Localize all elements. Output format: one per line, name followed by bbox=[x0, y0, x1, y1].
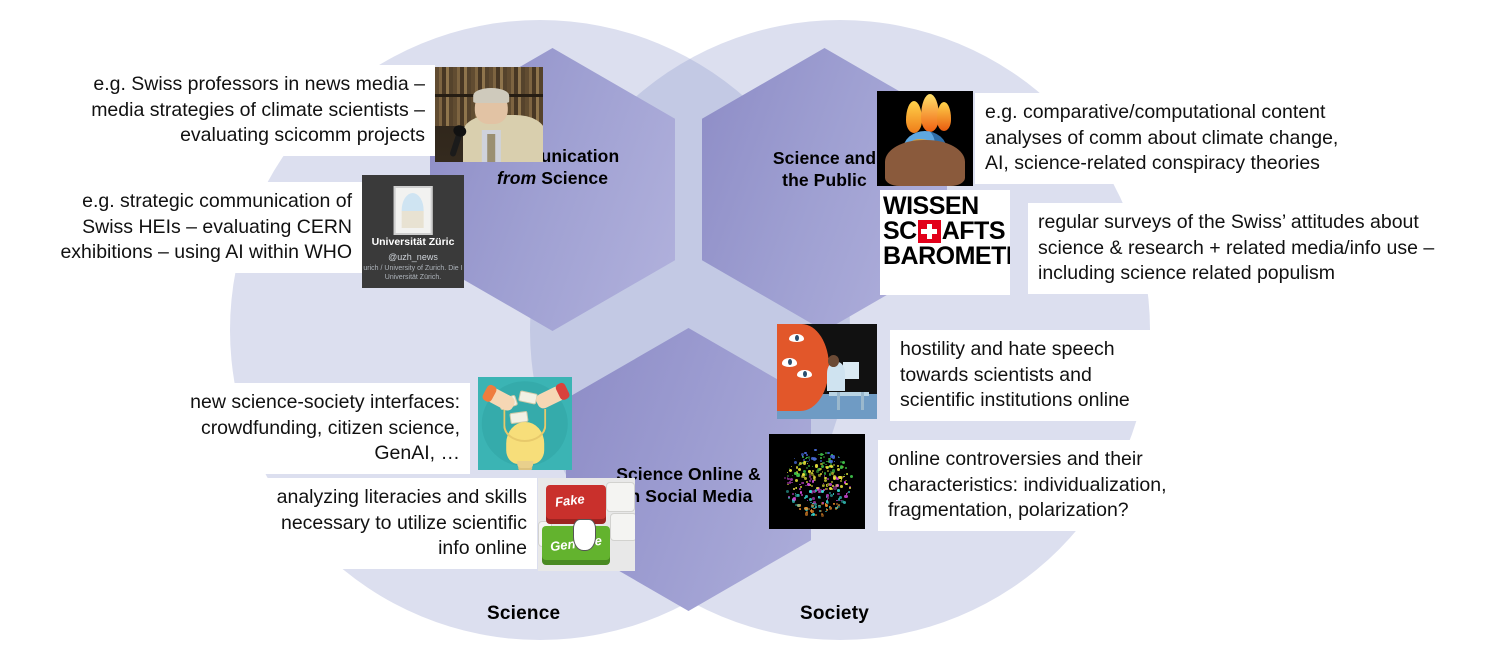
callout-line: e.g. Swiss professors in news media – bbox=[65, 72, 425, 98]
thumbnail-crowdfunding-lightbulb bbox=[478, 377, 572, 470]
mouse-cursor-icon bbox=[573, 519, 596, 551]
callout-line: media strategies of climate scientists – bbox=[65, 98, 425, 124]
callout-line: necessary to utilize scientific bbox=[247, 511, 527, 537]
callout-line: analyses of comm about climate change, bbox=[985, 126, 1393, 152]
callout-line: e.g. strategic communication of bbox=[42, 189, 352, 215]
callout-line: online controversies and their bbox=[888, 447, 1198, 473]
thumbnail-professor-photo bbox=[435, 67, 543, 162]
callout-line: info online bbox=[247, 536, 527, 562]
callout-regular-surveys-swiss-attitudes: regular surveys of the Swiss’ attitudes … bbox=[1028, 203, 1494, 294]
callout-line: analyzing literacies and skills bbox=[247, 485, 527, 511]
uzh-account-name: Universität Züric bbox=[362, 236, 464, 248]
callout-line: towards scientists and bbox=[900, 363, 1180, 389]
callout-line: exhibitions – using AI within WHO bbox=[42, 240, 352, 266]
uzh-account-meta: urich / University of Zurich. Die I Univ… bbox=[362, 264, 464, 282]
hexagon-label-science-public: Science and the Public bbox=[773, 148, 876, 192]
callout-online-controversies: online controversies and their character… bbox=[878, 440, 1208, 531]
diagram-canvas: Science Society Communication from Scien… bbox=[0, 0, 1501, 666]
callout-line: AI, science-related conspiracy theories bbox=[985, 151, 1393, 177]
wissenschaftsbarometer-logo-illustration: WISSEN SCAFTS BAROMETER bbox=[880, 190, 1010, 295]
callout-line: crowdfunding, citizen science, bbox=[150, 416, 460, 442]
uzh-account-handle: @uzh_news bbox=[362, 252, 464, 262]
wb-logo-line2: SCAFTS bbox=[883, 219, 1007, 244]
hexagon-label-science-online: Science Online & in Social Media bbox=[616, 464, 761, 508]
thumbnail-fake-genuine-keyboard: Fake Genuine bbox=[538, 478, 635, 571]
callout-line: hostility and hate speech bbox=[900, 337, 1180, 363]
thumbnail-network-graph bbox=[769, 434, 865, 529]
callout-line: including science related populism bbox=[1038, 261, 1484, 287]
thumbnail-uzh-twitter-card: Universität Züric @uzh_news urich / Univ… bbox=[362, 175, 464, 288]
crowdfunding-lightbulb-illustration bbox=[478, 377, 572, 470]
callout-comparative-computational-content-analyses: e.g. comparative/computational content a… bbox=[975, 93, 1403, 184]
network-graph-illustration bbox=[769, 434, 865, 529]
thumbnail-hate-speech-illustration bbox=[777, 324, 877, 419]
thumbnail-earth-in-hands bbox=[877, 91, 973, 186]
swiss-cross-icon bbox=[918, 220, 941, 243]
circle-label-society: Society bbox=[800, 603, 869, 625]
thumbnail-wissenschaftsbarometer-logo: WISSEN SCAFTS BAROMETER bbox=[880, 190, 1010, 295]
hate-speech-illustration bbox=[777, 324, 877, 419]
callout-line: Swiss HEIs – evaluating CERN bbox=[42, 215, 352, 241]
callout-line: new science-society interfaces: bbox=[150, 390, 460, 416]
callout-line: regular surveys of the Swiss’ attitudes … bbox=[1038, 210, 1484, 236]
callout-strategic-communication-swiss-heis: e.g. strategic communication of Swiss HE… bbox=[32, 182, 362, 273]
callout-analyzing-literacies-skills: analyzing literacies and skills necessar… bbox=[237, 478, 537, 569]
callout-line: fragmentation, polarization? bbox=[888, 498, 1198, 524]
wb-logo-line1: WISSEN bbox=[883, 194, 1007, 219]
callout-line: e.g. comparative/computational content bbox=[985, 100, 1393, 126]
callout-swiss-professors-news-media: e.g. Swiss professors in news media – me… bbox=[55, 65, 435, 156]
uzh-twitter-card-illustration: Universität Züric @uzh_news urich / Univ… bbox=[362, 175, 464, 288]
callout-line: GenAI, … bbox=[150, 441, 460, 467]
earth-in-hands-illustration bbox=[877, 91, 973, 186]
professor-photo-illustration bbox=[435, 67, 543, 162]
callout-hostility-hate-speech: hostility and hate speech towards scient… bbox=[890, 330, 1190, 421]
wb-logo-line3: BAROMETER bbox=[883, 244, 1007, 269]
callout-line: evaluating scicomm projects bbox=[65, 123, 425, 149]
callout-new-science-society-interfaces: new science-society interfaces: crowdfun… bbox=[140, 383, 470, 474]
fake-genuine-keyboard-illustration: Fake Genuine bbox=[538, 478, 635, 571]
circle-label-science: Science bbox=[487, 603, 560, 625]
callout-line: scientific institutions online bbox=[900, 388, 1180, 414]
callout-line: characteristics: individualization, bbox=[888, 473, 1198, 499]
callout-line: science & research + related media/info … bbox=[1038, 236, 1484, 262]
